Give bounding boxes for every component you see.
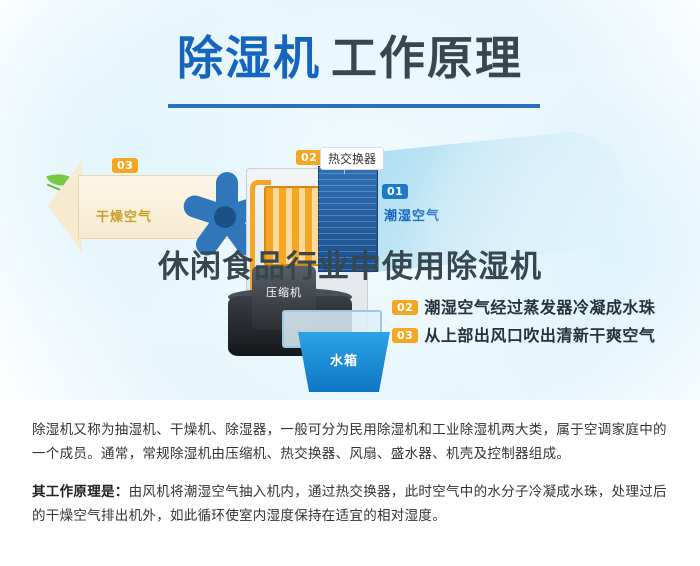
overlay-step: 02 潮湿空气经过蒸发器冷凝成水珠 — [392, 297, 692, 318]
page-title-dark: 工作原理 — [331, 31, 523, 85]
moist-air-label: 潮湿空气 — [384, 205, 440, 224]
overlay-step-number: 02 — [392, 300, 418, 315]
overlay-step-number: 03 — [392, 328, 418, 343]
paragraph-principle: 其工作原理是：由风机将潮湿空气抽入机内，通过热交换器，此时空气中的水分子冷凝成水… — [32, 480, 668, 528]
page-title-blue: 除湿机 — [177, 31, 321, 85]
page-root: 除湿机工作原理 干燥空气 03 潮湿空气 01 02 — [0, 0, 700, 566]
heat-exchanger-tag: 热交换器 — [320, 147, 384, 170]
compressor-label: 压缩机 — [256, 286, 312, 299]
overlay-steps: 02 潮湿空气经过蒸发器冷凝成水珠 03 从上部出风口吹出清新干爽空气 — [392, 297, 692, 353]
badge-03-diagram: 03 — [112, 158, 138, 173]
badge-02-diagram: 02 — [296, 150, 322, 165]
hero-illustration: 除湿机工作原理 干燥空气 03 潮湿空气 01 02 — [0, 0, 700, 400]
overlay-title: 休闲食品行业中使用除湿机 — [0, 248, 700, 286]
overlay-step-text: 潮湿空气经过蒸发器冷凝成水珠 — [424, 297, 655, 318]
overlay-step: 03 从上部出风口吹出清新干爽空气 — [392, 325, 692, 346]
page-title: 除湿机工作原理 — [0, 22, 700, 88]
article-body: 除湿机又称为抽湿机、干燥机、除湿器，一般可分为民用除湿机和工业除湿机两大类，属于… — [0, 404, 700, 542]
dry-air-label: 干燥空气 — [96, 206, 152, 225]
dry-air-arrow-tip — [48, 160, 82, 252]
overlay-step-text: 从上部出风口吹出清新干爽空气 — [424, 325, 655, 346]
water-tank-label: 水箱 — [298, 350, 390, 369]
title-underline — [168, 104, 540, 108]
badge-01-diagram: 01 — [382, 184, 408, 199]
paragraph-principle-label: 其工作原理是： — [32, 484, 129, 500]
paragraph-definition: 除湿机又称为抽湿机、干燥机、除湿器，一般可分为民用除湿机和工业除湿机两大类，属于… — [32, 418, 668, 466]
